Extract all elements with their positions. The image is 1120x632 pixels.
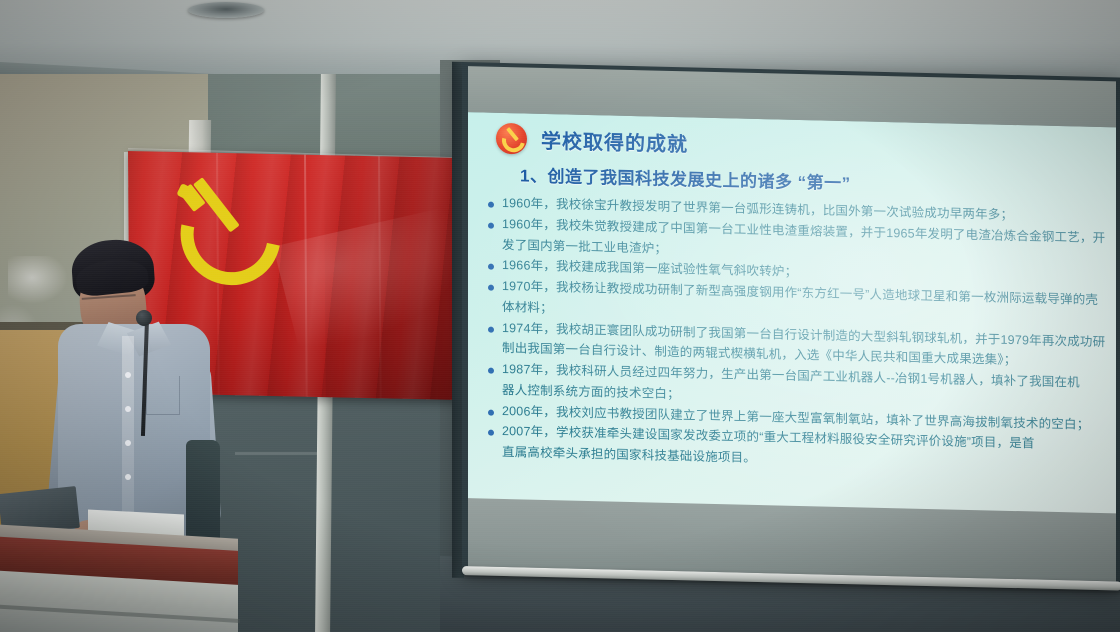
projection-screen: 学校取得的成就 1、创造了我国科技发展史上的诸多 “第一” 1960年，我校徐宝… bbox=[462, 62, 1120, 596]
shirt-button bbox=[125, 372, 131, 378]
shirt-pocket bbox=[146, 376, 180, 415]
shirt-button bbox=[125, 440, 131, 446]
ceiling-light-icon bbox=[188, 2, 264, 18]
lecture-hall-scene: 学校取得的成就 1、创造了我国科技发展史上的诸多 “第一” 1960年，我校徐宝… bbox=[0, 0, 1120, 632]
shirt-button bbox=[125, 474, 131, 480]
bullet-dot-icon bbox=[488, 264, 494, 270]
shirt-placket bbox=[122, 336, 134, 526]
microphone-icon bbox=[136, 310, 152, 326]
shirt-button bbox=[125, 406, 131, 412]
bullet-dot-icon bbox=[488, 222, 494, 228]
bullet-dot-icon bbox=[488, 326, 494, 332]
bullet-dot-icon bbox=[488, 202, 494, 208]
wall-seam bbox=[235, 452, 320, 455]
bullet-dot-icon bbox=[488, 368, 494, 374]
slide-title: 学校取得的成就 bbox=[541, 125, 688, 157]
slide-title-row: 学校取得的成就 bbox=[496, 123, 688, 159]
slide-bullet-list: 1960年，我校徐宝升教授发明了世界第一台弧形连铸机，比国外第一次试验成功早两年… bbox=[488, 195, 1116, 480]
slide-heading: 1、创造了我国科技发展史上的诸多 “第一” bbox=[520, 161, 851, 194]
presentation-slide: 学校取得的成就 1、创造了我国科技发展史上的诸多 “第一” 1960年，我校徐宝… bbox=[468, 112, 1116, 513]
bullet-dot-icon bbox=[488, 285, 494, 291]
bullet-dot-icon bbox=[488, 430, 494, 436]
bullet-dot-icon bbox=[488, 409, 494, 415]
party-emblem-icon bbox=[496, 123, 527, 155]
